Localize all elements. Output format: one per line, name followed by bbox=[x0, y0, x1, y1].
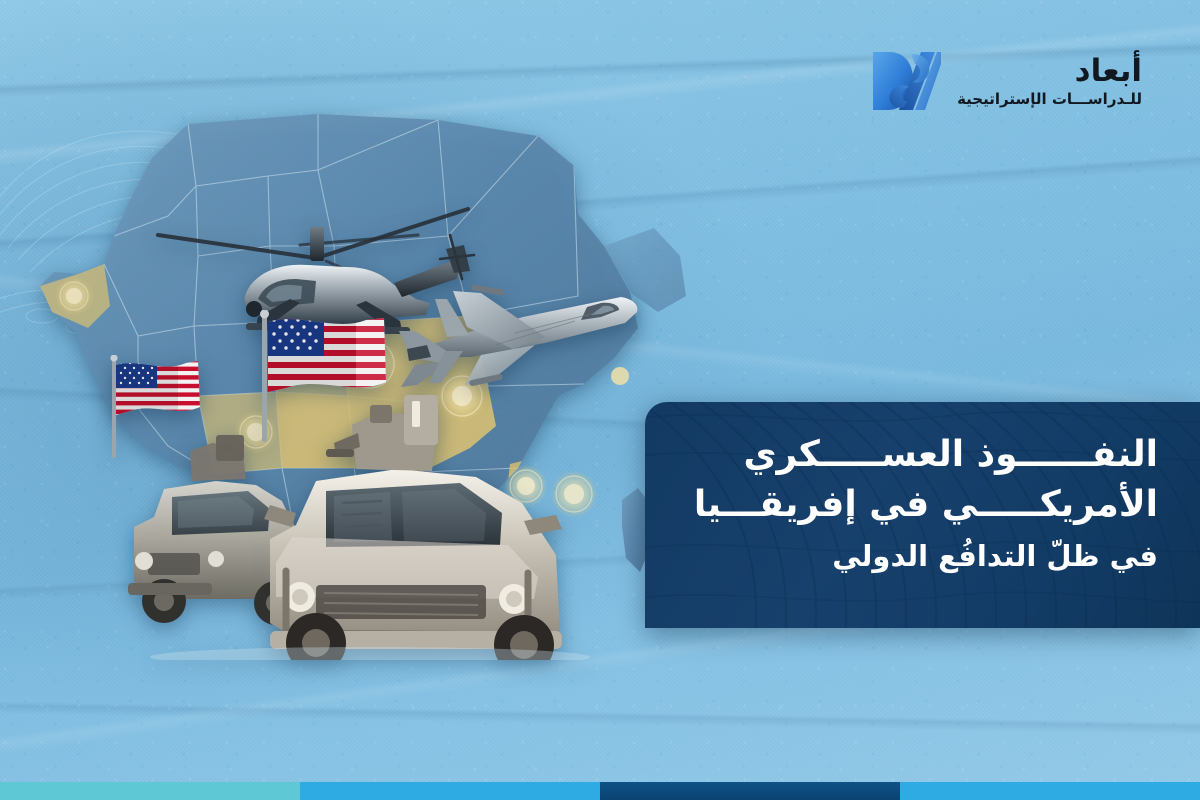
remote-weapon-station bbox=[326, 395, 438, 471]
brand-name: أبعاد bbox=[957, 54, 1142, 88]
fighter-jet-icon bbox=[395, 265, 645, 400]
title-line-2: الأمريكـــــي في إفريقـــيا bbox=[669, 480, 1158, 530]
poster-canvas: النفــــــوذ العســـــكري الأمريكـــــي … bbox=[0, 0, 1200, 800]
bottom-bar-segment-mid-blue bbox=[300, 782, 600, 800]
title-banner: النفــــــوذ العســـــكري الأمريكـــــي … bbox=[645, 402, 1200, 628]
title-line-1: النفــــــوذ العســـــكري bbox=[669, 430, 1158, 480]
brand-tagline: للـدراســـات الإستراتيجية bbox=[957, 89, 1142, 109]
dss-monogram-icon bbox=[869, 50, 941, 112]
bottom-bar-segment-teal bbox=[0, 782, 300, 800]
brand-logo[interactable]: أبعاد للـدراســـات الإستراتيجية bbox=[869, 50, 1142, 112]
brand-wordmark: أبعاد للـدراســـات الإستراتيجية bbox=[957, 54, 1142, 109]
title-text-block: النفــــــوذ العســـــكري الأمريكـــــي … bbox=[669, 430, 1158, 580]
title-line-3: في ظلّ التدافُع الدولي bbox=[669, 530, 1158, 580]
bottom-bar-segment-navy bbox=[600, 782, 900, 800]
convoy-vehicle-front bbox=[264, 395, 562, 660]
military-convoy-icon bbox=[120, 385, 590, 660]
bottom-bar-segment-left-blue bbox=[900, 782, 1200, 800]
bottom-color-bar bbox=[0, 782, 1200, 800]
